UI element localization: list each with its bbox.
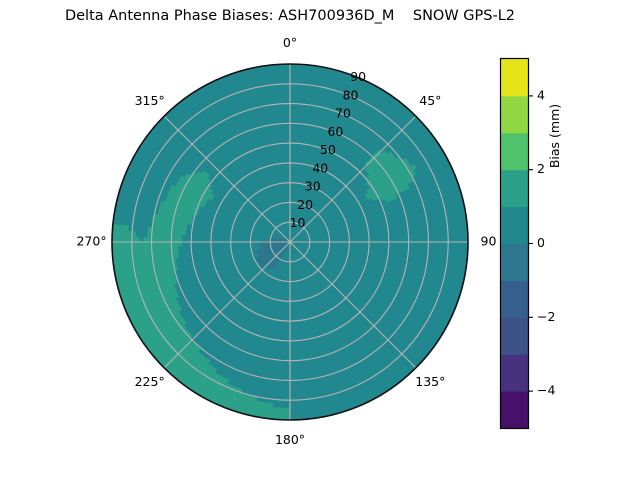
zenith-label-60: 60 — [327, 124, 343, 139]
figure-title: Delta Antenna Phase Biases: ASH700936D_M… — [0, 8, 580, 24]
colorbar-tick-label-0: 4 — [537, 87, 545, 102]
colorbar-band-3 — [501, 280, 528, 317]
colorbar-band-9 — [501, 59, 528, 96]
zenith-label-30: 30 — [305, 179, 321, 194]
colorbar-tick-label-3: −2 — [537, 309, 555, 324]
zenith-label-90: 90 — [350, 69, 366, 84]
zenith-label-80: 80 — [343, 87, 359, 102]
figure-canvas: Delta Antenna Phase Biases: ASH700936D_M… — [0, 0, 640, 480]
colorbar-tick-label-2: 0 — [537, 235, 545, 250]
azimuth-label-135: 135° — [415, 374, 445, 389]
azimuth-label-45: 45° — [419, 93, 441, 108]
colorbar-tick-label-1: 2 — [537, 161, 545, 176]
azimuth-label-0: 0° — [283, 35, 297, 50]
zenith-label-50: 50 — [320, 142, 336, 157]
colorbar-band-8 — [501, 96, 528, 133]
colorbar-axis-label: Bias (mm) — [547, 66, 562, 206]
zenith-label-10: 10 — [290, 215, 306, 230]
azimuth-label-315: 315° — [135, 93, 165, 108]
colorbar-band-4 — [501, 244, 528, 281]
polar-axes: 0°45°90135°180°225°270°315° 102030405060… — [0, 28, 580, 468]
polar-plot-svg: 0°45°90135°180°225°270°315° 102030405060… — [0, 28, 580, 468]
colorbar-band-2 — [501, 317, 528, 354]
azimuth-label-270: 270° — [76, 234, 106, 249]
colorbar-band-0 — [501, 391, 528, 428]
azimuth-label-180: 180° — [275, 432, 305, 447]
polar-gridlines — [112, 64, 468, 420]
colorbar-band-1 — [501, 354, 528, 391]
zenith-label-40: 40 — [312, 160, 328, 175]
colorbar-tick-label-4: −4 — [537, 383, 555, 398]
colorbar-band-5 — [501, 207, 528, 244]
zenith-label-20: 20 — [297, 197, 313, 212]
zenith-label-70: 70 — [335, 106, 351, 121]
colorbar-band-7 — [501, 133, 528, 170]
azimuth-label-225: 225° — [135, 374, 165, 389]
colorbar-bands — [501, 59, 528, 429]
colorbar-band-6 — [501, 170, 528, 207]
